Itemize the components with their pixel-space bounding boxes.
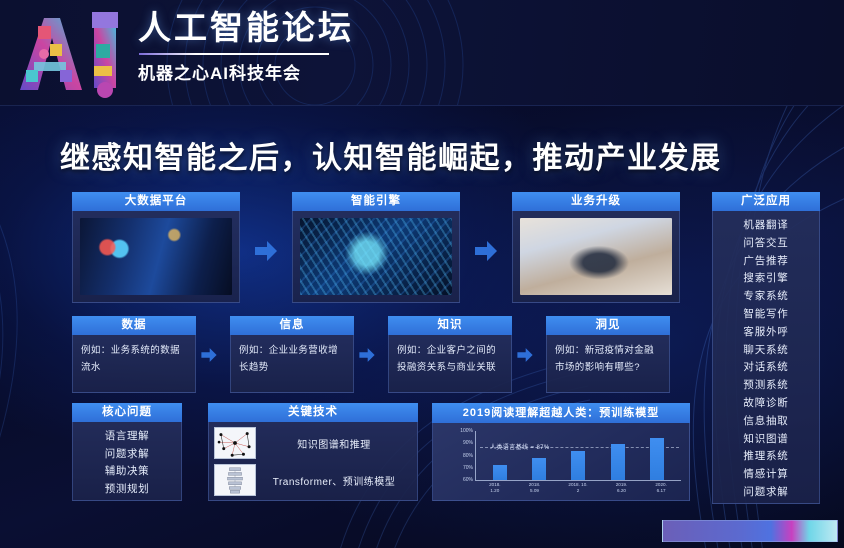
pipeline-card-business-upgrade: 业务升级 xyxy=(512,192,680,303)
core-problems-list: 语言理解问题求解辅助决策预测规划 xyxy=(72,422,182,501)
header-bar: 人工智能论坛 机器之心AI科技年会 xyxy=(0,0,844,106)
pipeline-card-label: 业务升级 xyxy=(512,192,680,211)
pipeline-card-label: 智能引擎 xyxy=(292,192,460,211)
chart-bar xyxy=(571,451,585,480)
dikw-card-label: 数据 xyxy=(72,316,196,335)
key-technology-title: 关键技术 xyxy=(208,403,418,422)
slide-canvas: 人工智能论坛 机器之心AI科技年会 继感知智能之后，认知智能崛起，推动产业发展 … xyxy=(0,0,844,548)
application-item: 问答交互 xyxy=(713,235,819,253)
applications-panel: 广泛应用 机器翻译问答交互广告推荐搜索引擎专家系统智能写作客服外呼聊天系统对话系… xyxy=(712,192,820,504)
dikw-card-text: 例如：企业客户之间的投融资关系与商业关联 xyxy=(397,342,503,376)
dikw-card-text: 例如：企业业务营收增长趋势 xyxy=(239,342,345,376)
core-problem-item: 语言理解 xyxy=(73,428,181,446)
dikw-card-label: 知识 xyxy=(388,316,512,335)
application-item: 搜索引擎 xyxy=(713,270,819,288)
core-problem-item: 预测规划 xyxy=(73,481,181,499)
chart-bars xyxy=(476,431,681,480)
bottom-gradient-bar xyxy=(662,520,838,542)
key-technology-panel: 关键技术 知识图谱和推理 xyxy=(208,403,418,501)
forum-title: 人工智能论坛 xyxy=(138,6,354,50)
arrow-right-icon xyxy=(358,346,376,364)
key-technology-item: 知识图谱和推理 xyxy=(214,426,412,460)
applications-title: 广泛应用 xyxy=(712,192,820,211)
application-item: 广告推荐 xyxy=(713,253,819,271)
application-item: 客服外呼 xyxy=(713,324,819,342)
application-item: 知识图谱 xyxy=(713,431,819,449)
key-technology-body: 知识图谱和推理 Tran xyxy=(208,422,418,501)
application-item: 情感计算 xyxy=(713,466,819,484)
pipeline-card-label: 大数据平台 xyxy=(72,192,240,211)
arrow-right-icon xyxy=(516,346,534,364)
application-item: 专家系统 xyxy=(713,288,819,306)
chart-bar xyxy=(611,444,625,480)
chart-x-tick: 2018. 10.2 xyxy=(568,482,587,498)
dikw-card-text: 例如：新冠疫情对金融市场的影响有哪些? xyxy=(555,342,661,376)
chart-x-tick: 2019.6.20 xyxy=(616,482,628,498)
pipeline-card-body xyxy=(292,211,460,303)
application-item: 问题求解 xyxy=(713,484,819,502)
dikw-card-text: 例如：业务系统的数据流水 xyxy=(81,342,187,376)
header-divider xyxy=(139,53,329,55)
key-technology-item: Transformer、预训练模型 xyxy=(214,463,412,497)
dikw-card-body: 例如：企业业务营收增长趋势 xyxy=(230,335,354,393)
application-item: 推理系统 xyxy=(713,448,819,466)
arrow-right-icon xyxy=(200,346,218,364)
chart-bar xyxy=(650,438,664,480)
dikw-card-information: 信息 例如：企业业务营收增长趋势 xyxy=(230,316,354,393)
key-technology-label: Transformer、预训练模型 xyxy=(256,473,412,488)
core-problems-title: 核心问题 xyxy=(72,403,182,422)
chart-plot-area: 100%90%80%70%60% 人类语言基线 = 87% xyxy=(475,431,681,481)
pipeline-card-body xyxy=(72,211,240,303)
application-item: 对话系统 xyxy=(713,359,819,377)
core-problem-item: 问题求解 xyxy=(73,446,181,464)
dikw-card-data: 数据 例如：业务系统的数据流水 xyxy=(72,316,196,393)
dikw-card-body: 例如：新冠疫情对金融市场的影响有哪些? xyxy=(546,335,670,393)
core-problem-item: 辅助决策 xyxy=(73,463,181,481)
slide-headline: 继感知智能之后，认知智能崛起，推动产业发展 xyxy=(60,133,830,177)
application-item: 聊天系统 xyxy=(713,342,819,360)
pipeline-card-intelligent-engine: 智能引擎 xyxy=(292,192,460,303)
application-item: 预测系统 xyxy=(713,377,819,395)
application-item: 故障诊断 xyxy=(713,395,819,413)
chart-body: 100%90%80%70%60% 人类语言基线 = 87% 2018.1.202… xyxy=(432,423,690,501)
chart-y-tick: 80% xyxy=(463,453,473,459)
chart-x-tick: 2018.1.20 xyxy=(489,482,501,498)
chart-x-tick: 2018.5.09 xyxy=(529,482,541,498)
knowledge-graph-thumb xyxy=(214,427,256,459)
ai-logo-icon xyxy=(8,4,138,100)
applications-list: 机器翻译问答交互广告推荐搜索引擎专家系统智能写作客服外呼聊天系统对话系统预测系统… xyxy=(712,211,820,504)
forum-subtitle: 机器之心AI科技年会 xyxy=(138,59,354,84)
header-text-block: 人工智能论坛 机器之心AI科技年会 xyxy=(138,6,354,84)
chart-bar xyxy=(532,458,546,480)
chart-y-tick: 60% xyxy=(463,477,473,483)
dikw-card-label: 洞见 xyxy=(546,316,670,335)
chart-y-tick: 70% xyxy=(463,465,473,471)
chart-x-tick: 2020.6.17 xyxy=(655,482,667,498)
dikw-card-body: 例如：企业客户之间的投融资关系与商业关联 xyxy=(388,335,512,393)
application-item: 智能写作 xyxy=(713,306,819,324)
pipeline-card-big-data: 大数据平台 xyxy=(72,192,240,303)
arrow-right-icon xyxy=(253,238,279,264)
pipeline-card-body xyxy=(512,211,680,303)
chart-bar xyxy=(493,465,507,480)
tablet-business-photo xyxy=(520,218,672,295)
chart-y-tick: 100% xyxy=(460,428,473,434)
key-technology-label: 知识图谱和推理 xyxy=(256,436,412,451)
arrow-right-icon xyxy=(473,238,499,264)
dikw-card-label: 信息 xyxy=(230,316,354,335)
transformer-architecture-thumb xyxy=(214,464,256,496)
chart-title: 2019阅读理解超越人类：预训练模型 xyxy=(432,403,690,423)
chart-x-axis: 2018.1.202018.5.092018. 10.22019.6.20202… xyxy=(475,482,681,498)
application-item: 信息抽取 xyxy=(713,413,819,431)
reading-comprehension-chart-panel: 2019阅读理解超越人类：预训练模型 100%90%80%70%60% 人类语言… xyxy=(432,403,690,501)
city-data-photo xyxy=(80,218,232,295)
neural-network-photo xyxy=(300,218,452,295)
core-problems-panel: 核心问题 语言理解问题求解辅助决策预测规划 xyxy=(72,403,182,501)
chart-y-tick: 90% xyxy=(463,440,473,446)
dikw-card-knowledge: 知识 例如：企业客户之间的投融资关系与商业关联 xyxy=(388,316,512,393)
dikw-card-insight: 洞见 例如：新冠疫情对金融市场的影响有哪些? xyxy=(546,316,670,393)
dikw-card-body: 例如：业务系统的数据流水 xyxy=(72,335,196,393)
application-item: 机器翻译 xyxy=(713,217,819,235)
